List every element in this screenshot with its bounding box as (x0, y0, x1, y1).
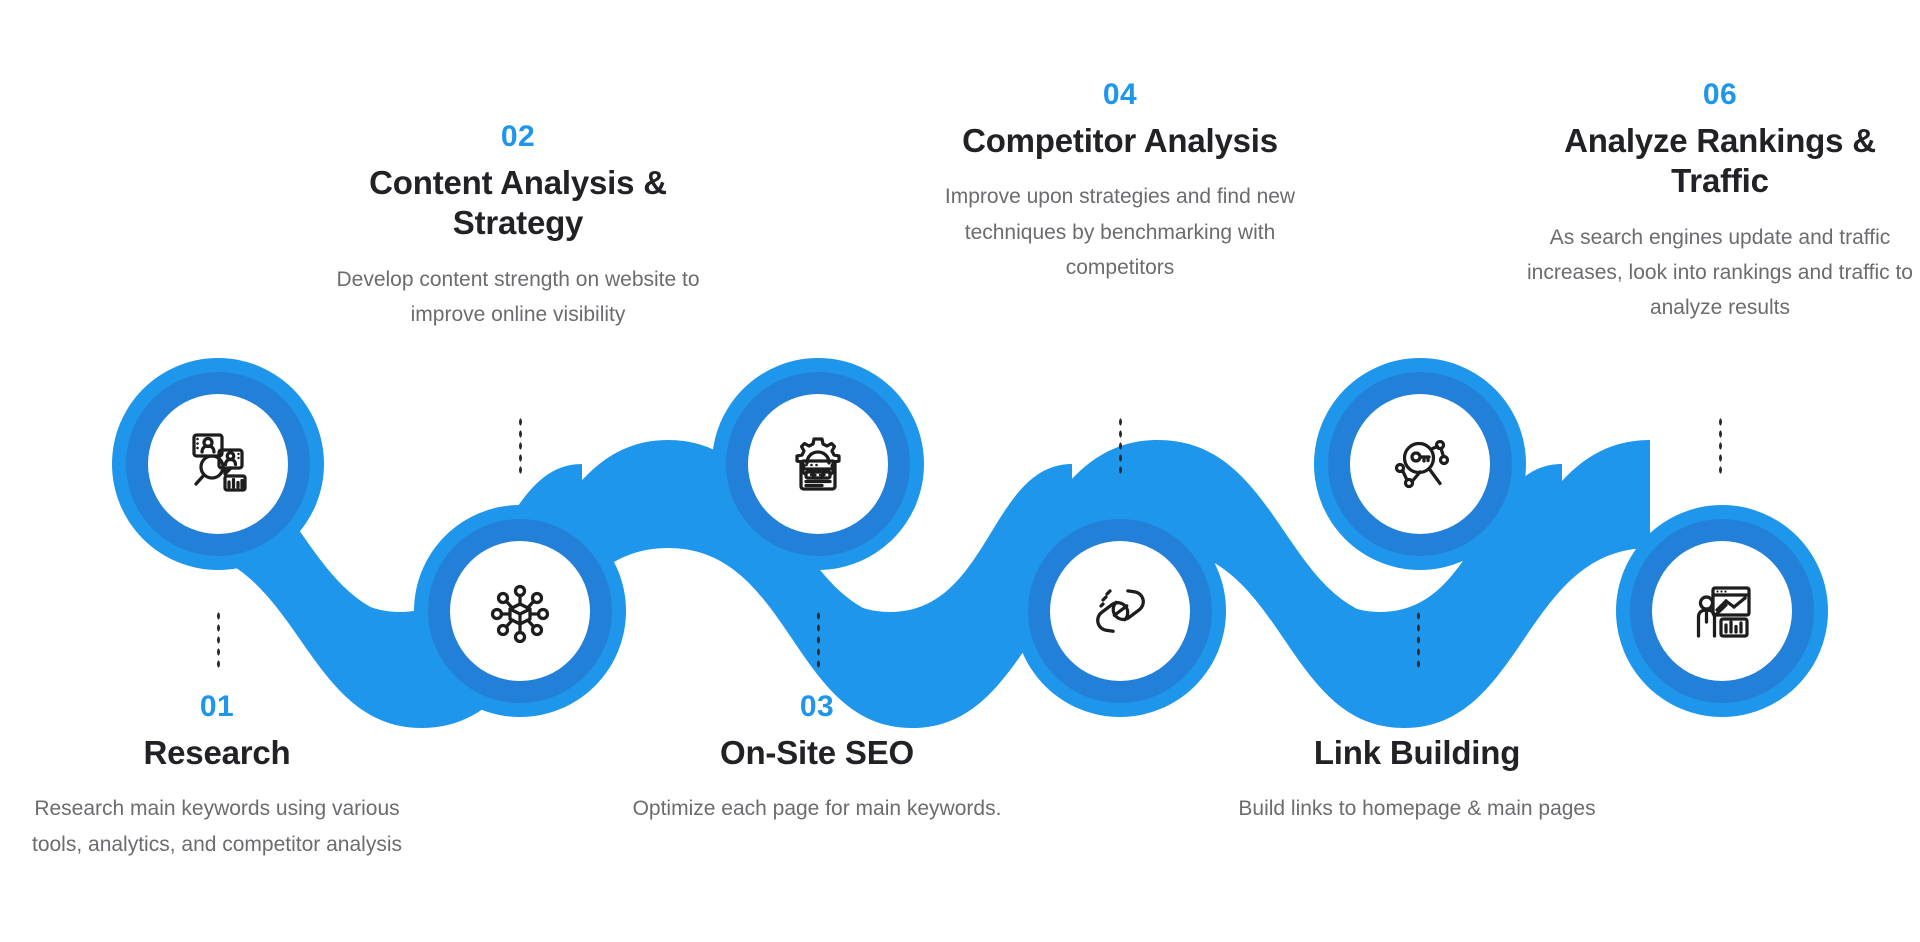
leader-line-06 (1718, 416, 1723, 474)
step-number-01: 01 (22, 690, 412, 723)
step-circle-05[interactable] (1314, 358, 1526, 570)
step-title-03: On-Site SEO (622, 733, 1012, 773)
step-text-04: 04 Competitor Analysis Improve upon stra… (925, 78, 1315, 285)
step-text-03: 03 On-Site SEO Optimize each page for ma… (622, 690, 1012, 827)
step-text-01: 01 Research Research main keywords using… (22, 690, 412, 862)
step-desc-05: Build links to homepage & main pages (1222, 791, 1612, 826)
step-desc-03: Optimize each page for main keywords. (622, 791, 1012, 826)
leader-line-04 (1118, 416, 1123, 474)
step-text-06: 06 Analyze Rankings & Traffic As search … (1515, 78, 1920, 325)
step-number-06: 06 (1515, 78, 1920, 111)
leader-line-05 (1416, 610, 1421, 668)
step-title-05: Link Building (1222, 733, 1612, 773)
step-title-02: Content Analysis & Strategy (323, 163, 713, 244)
step-circle-03[interactable] (712, 358, 924, 570)
leader-line-03 (816, 610, 821, 668)
step-number-02: 02 (323, 120, 713, 153)
step-desc-02: Develop content strength on website to i… (323, 262, 713, 333)
leader-line-02 (518, 416, 523, 474)
step-circle-06[interactable] (1616, 505, 1828, 717)
step-number-05: 05 (1222, 690, 1612, 723)
step-title-01: Research (22, 733, 412, 773)
step-title-06: Analyze Rankings & Traffic (1515, 121, 1920, 202)
leader-line-01 (216, 610, 221, 668)
step-circle-04[interactable] (1014, 505, 1226, 717)
step-text-02: 02 Content Analysis & Strategy Develop c… (323, 120, 713, 332)
step-desc-06: As search engines update and traffic inc… (1515, 220, 1920, 326)
step-number-03: 03 (622, 690, 1012, 723)
step-title-04: Competitor Analysis (925, 121, 1315, 161)
step-circle-02[interactable] (414, 505, 626, 717)
step-text-05: 05 Link Building Build links to homepage… (1222, 690, 1612, 827)
step-number-04: 04 (925, 78, 1315, 111)
infographic-canvas: .ic{ fill:none; stroke:#1d1d1f; stroke-w… (0, 0, 1920, 942)
step-desc-04: Improve upon strategies and find new tec… (925, 179, 1315, 285)
step-circle-01[interactable] (112, 358, 324, 570)
step-desc-01: Research main keywords using various too… (22, 791, 412, 862)
network-cube-nodes-icon (493, 587, 548, 642)
